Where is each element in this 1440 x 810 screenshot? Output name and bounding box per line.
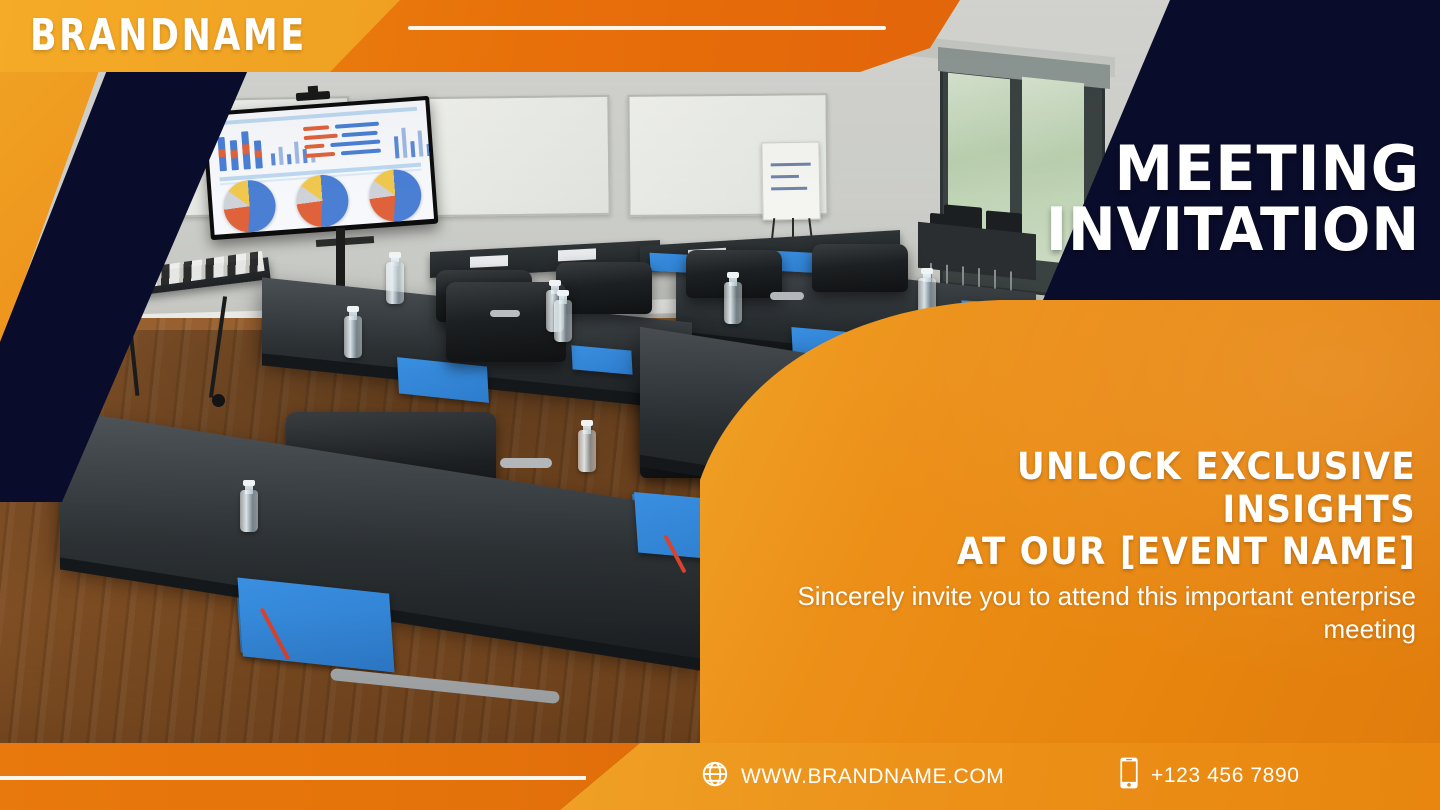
water-bottle — [724, 272, 742, 324]
title-line-1: MEETING — [1021, 140, 1420, 197]
header-rule — [408, 26, 886, 30]
flip-chart — [761, 141, 820, 220]
blue-folder — [237, 578, 394, 673]
camera — [308, 86, 319, 95]
pie-chart — [368, 168, 424, 224]
water-bottle — [240, 480, 276, 584]
presentation-screen — [202, 96, 439, 240]
footer-phone[interactable]: +123 456 7890 — [1118, 757, 1300, 794]
footer-rule — [0, 776, 586, 780]
water-bottle — [554, 290, 576, 354]
chair-arm — [770, 292, 804, 300]
chair-arm — [500, 458, 552, 468]
globe-icon — [700, 759, 730, 794]
website-label: WWW.BRANDNAME.COM — [741, 765, 1004, 789]
table-wheel — [212, 394, 225, 407]
poster-subheadline: UNLOCK EXCLUSIVE INSIGHTS AT OUR [EVENT … — [796, 446, 1416, 574]
pie-chart — [221, 178, 277, 234]
subheadline-line-1: UNLOCK EXCLUSIVE INSIGHTS — [846, 446, 1416, 531]
poster-canvas: BRANDNAME MEETING INVITATION UNLOCK EXCL… — [0, 0, 1440, 810]
pie-chart — [295, 173, 351, 229]
whiteboard — [419, 95, 610, 217]
screen-dashboard — [206, 100, 434, 235]
phone-label: +123 456 7890 — [1151, 764, 1300, 788]
water-bottle — [344, 306, 366, 368]
title-line-2: INVITATION — [1021, 203, 1420, 258]
brand-logo-text: BRANDNAME — [30, 10, 307, 61]
poster-title: MEETING INVITATION — [1000, 140, 1420, 258]
chair-arm — [490, 310, 520, 317]
water-bottle — [386, 252, 404, 304]
footer-website[interactable]: WWW.BRANDNAME.COM — [700, 759, 1004, 794]
water-bottle — [578, 420, 610, 512]
subheadline-line-2: AT OUR [EVENT NAME] — [846, 531, 1416, 574]
office-chair — [812, 244, 908, 292]
poster-body-text: Sincerely invite you to attend this impo… — [776, 580, 1416, 647]
smartphone-icon — [1118, 757, 1140, 794]
